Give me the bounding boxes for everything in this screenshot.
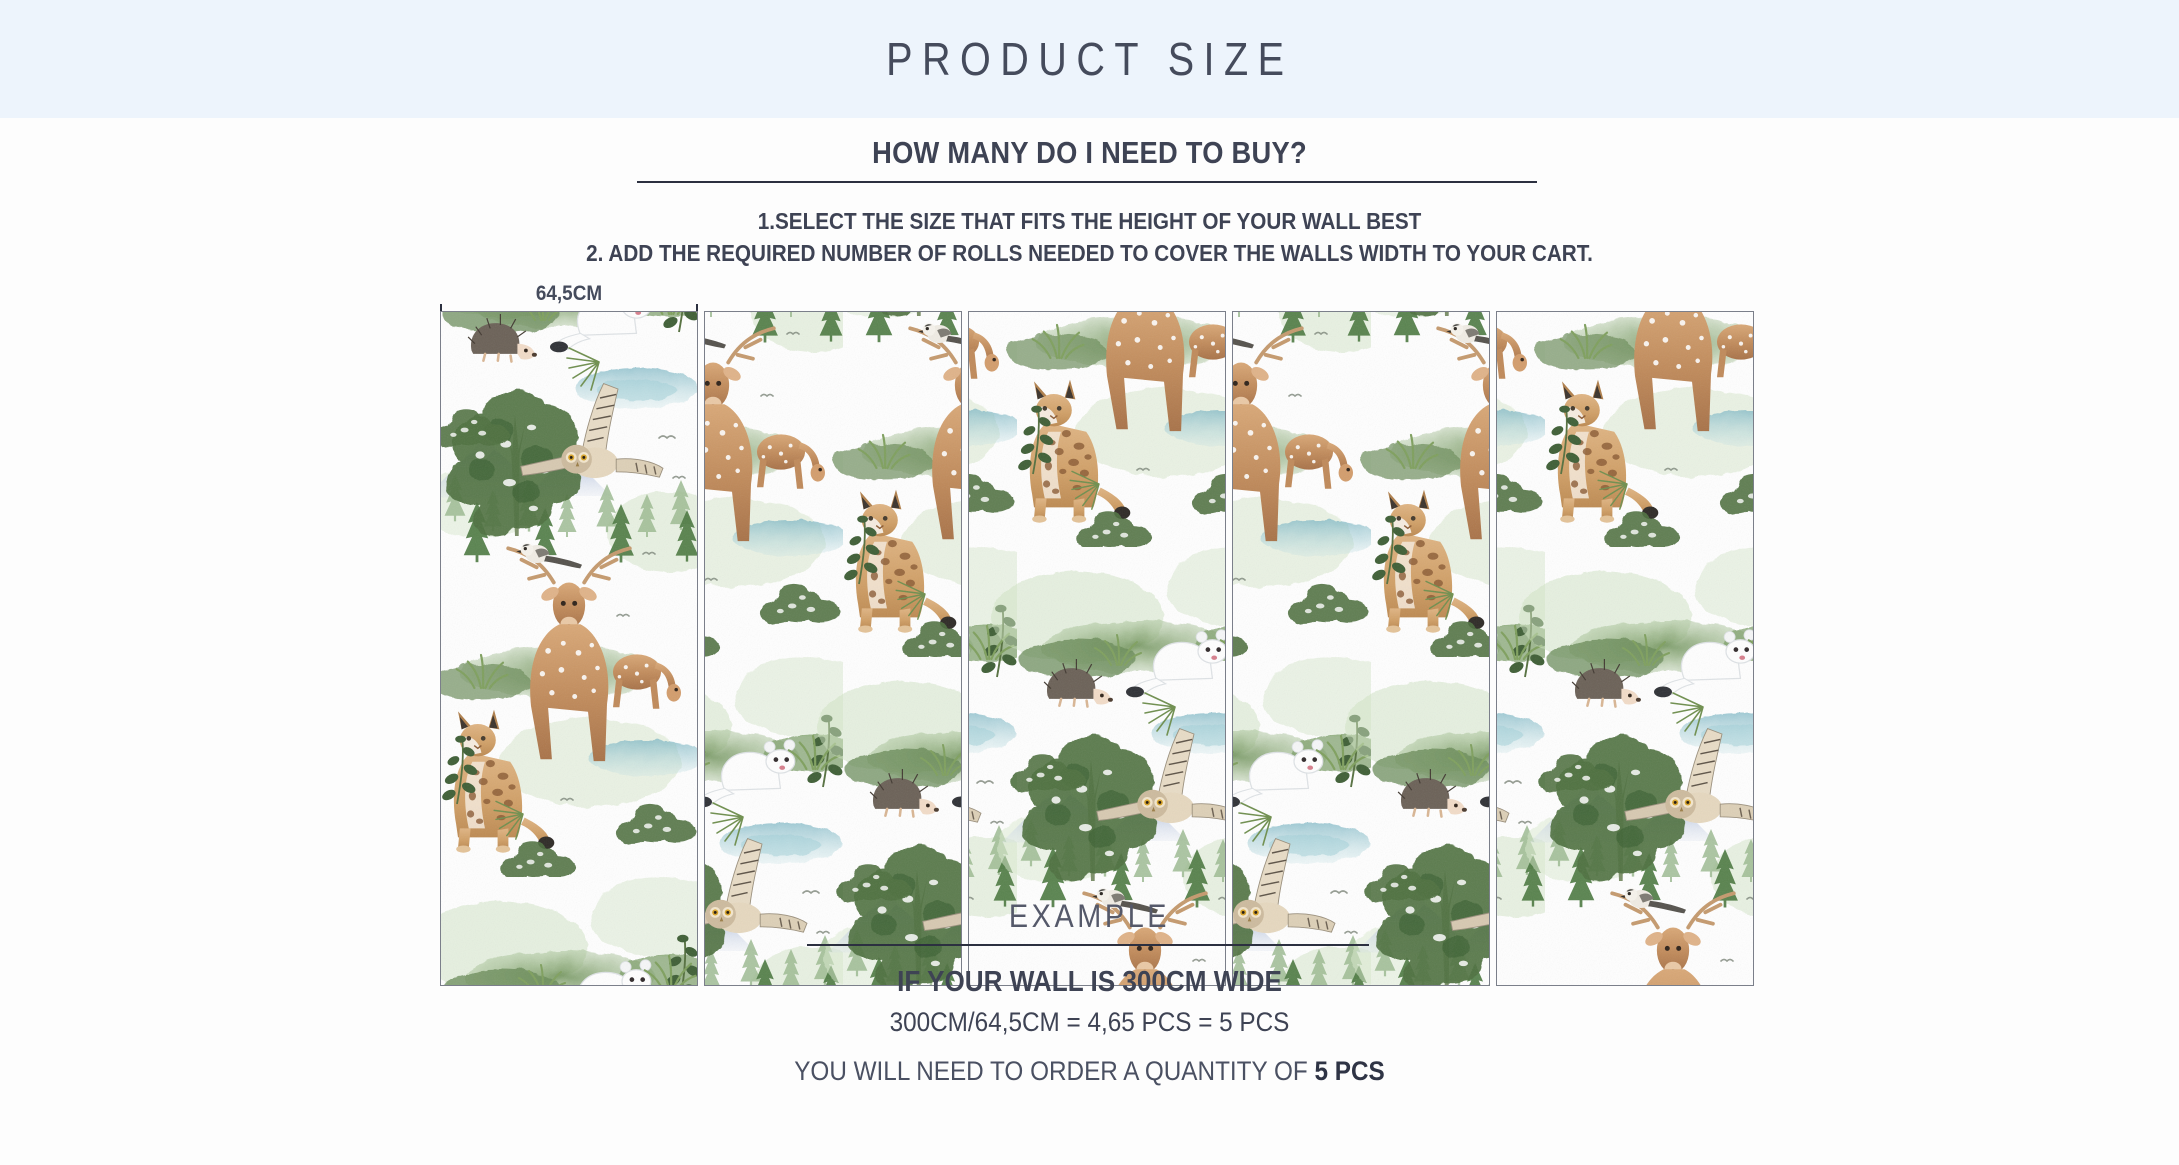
wallpaper-panel-4[interactable] <box>1232 311 1490 986</box>
section-subtitle: HOW MANY DO I NEED TO BUY? <box>131 135 2049 171</box>
example-line-3: YOU WILL NEED TO ORDER A QUANTITY OF 5 P… <box>109 1056 2070 1087</box>
example-line-3-prefix: YOU WILL NEED TO ORDER A QUANTITY OF <box>794 1056 1314 1086</box>
instruction-line-1: 1.SELECT THE SIZE THAT FITS THE HEIGHT O… <box>109 208 2070 235</box>
wallpaper-panel-2[interactable] <box>704 311 962 986</box>
width-measurement-label: 64,5CM <box>453 282 685 306</box>
wallpaper-pattern-2 <box>705 312 961 985</box>
wallpaper-pattern-3 <box>969 312 1225 985</box>
wallpaper-panel-5[interactable] <box>1496 311 1754 986</box>
page-title: PRODUCT SIZE <box>886 32 1293 86</box>
example-line-1: IF YOUR WALL IS 300CM WIDE <box>109 966 2070 999</box>
example-title: EXAMPLE <box>109 898 2070 935</box>
example-line-2: 300CM/64,5CM = 4,65 PCS = 5 PCS <box>109 1007 2070 1038</box>
header-band: PRODUCT SIZE <box>0 0 2179 118</box>
wallpaper-pattern-4 <box>1233 312 1489 985</box>
wallpaper-panel-3[interactable] <box>968 311 1226 986</box>
content-area: HOW MANY DO I NEED TO BUY? 1.SELECT THE … <box>0 118 2179 1165</box>
example-quantity: 5 PCS <box>1315 1056 1385 1086</box>
divider-example <box>807 944 1369 946</box>
wallpaper-panel-group <box>440 311 1736 986</box>
wallpaper-pattern-1 <box>441 312 697 985</box>
instruction-line-2: 2. ADD THE REQUIRED NUMBER OF ROLLS NEED… <box>109 240 2070 267</box>
divider-top <box>637 181 1537 183</box>
wallpaper-panel-1[interactable] <box>440 311 698 986</box>
wallpaper-pattern-5 <box>1497 312 1753 985</box>
